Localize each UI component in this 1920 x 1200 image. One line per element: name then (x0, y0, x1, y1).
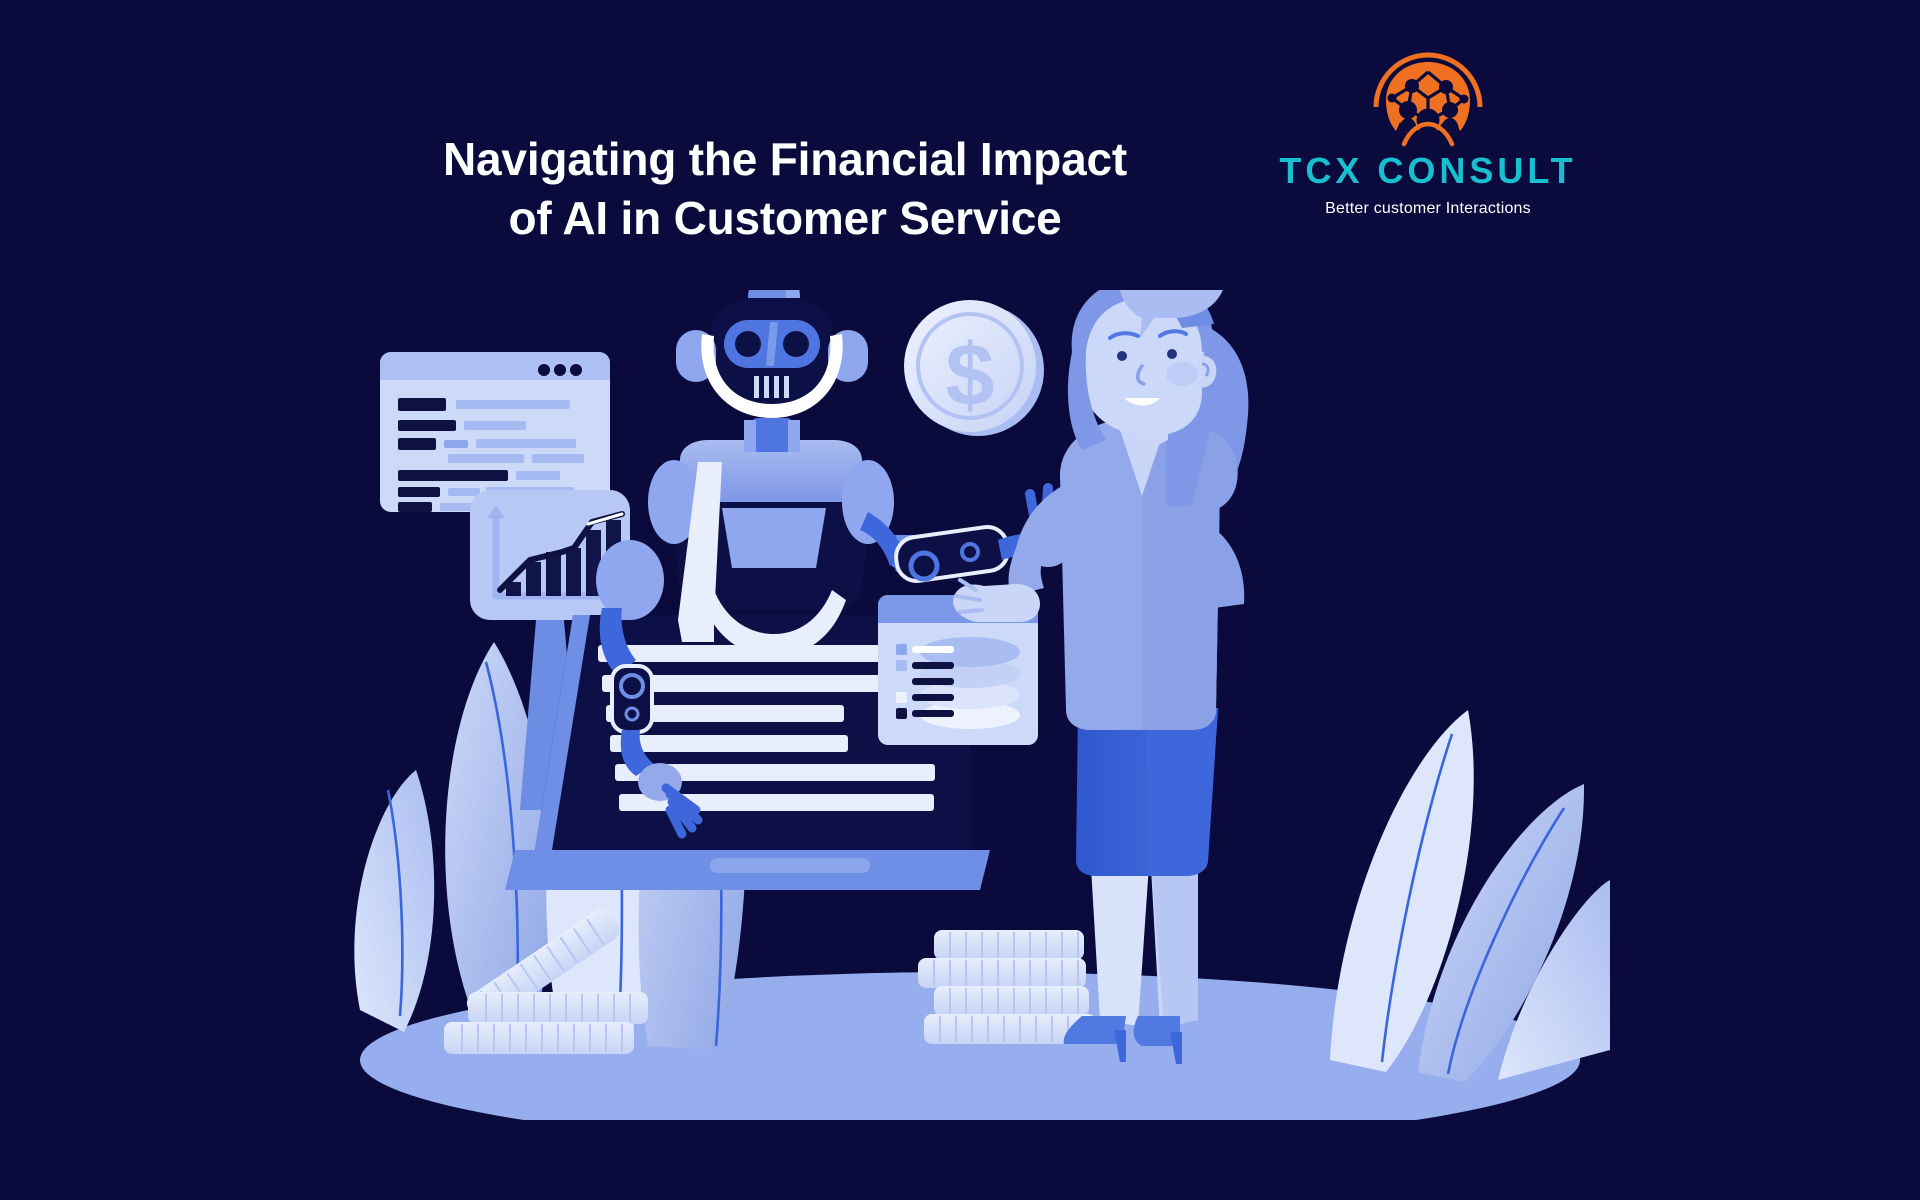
dollar-coin: $ (904, 300, 1044, 436)
ai-customer-service-finance-illustration: $ (330, 290, 1610, 1120)
logo-tagline: Better customer Interactions (1263, 200, 1593, 218)
laptop-trackpad (710, 858, 870, 873)
logo-wordmark: TCX CONSULT (1263, 153, 1593, 189)
tcx-network-globe-icon (1368, 52, 1488, 157)
title-line-1: Navigating the Financial Impact (390, 130, 1180, 189)
woman-hand-raised (953, 580, 1040, 622)
dollar-symbol: $ (946, 325, 995, 424)
title-line-2: of AI in Customer Service (390, 189, 1180, 248)
coin-stack-right (918, 930, 1096, 1044)
poster-canvas: Navigating the Financial Impact of AI in… (0, 0, 1920, 1200)
brand-logo[interactable]: TCX CONSULT Better customer Interactions (1263, 52, 1593, 218)
plant-leaves-right (1330, 710, 1610, 1082)
browser-window-document (380, 352, 610, 512)
page-title: Navigating the Financial Impact of AI in… (390, 130, 1180, 248)
window-dots (538, 364, 582, 376)
